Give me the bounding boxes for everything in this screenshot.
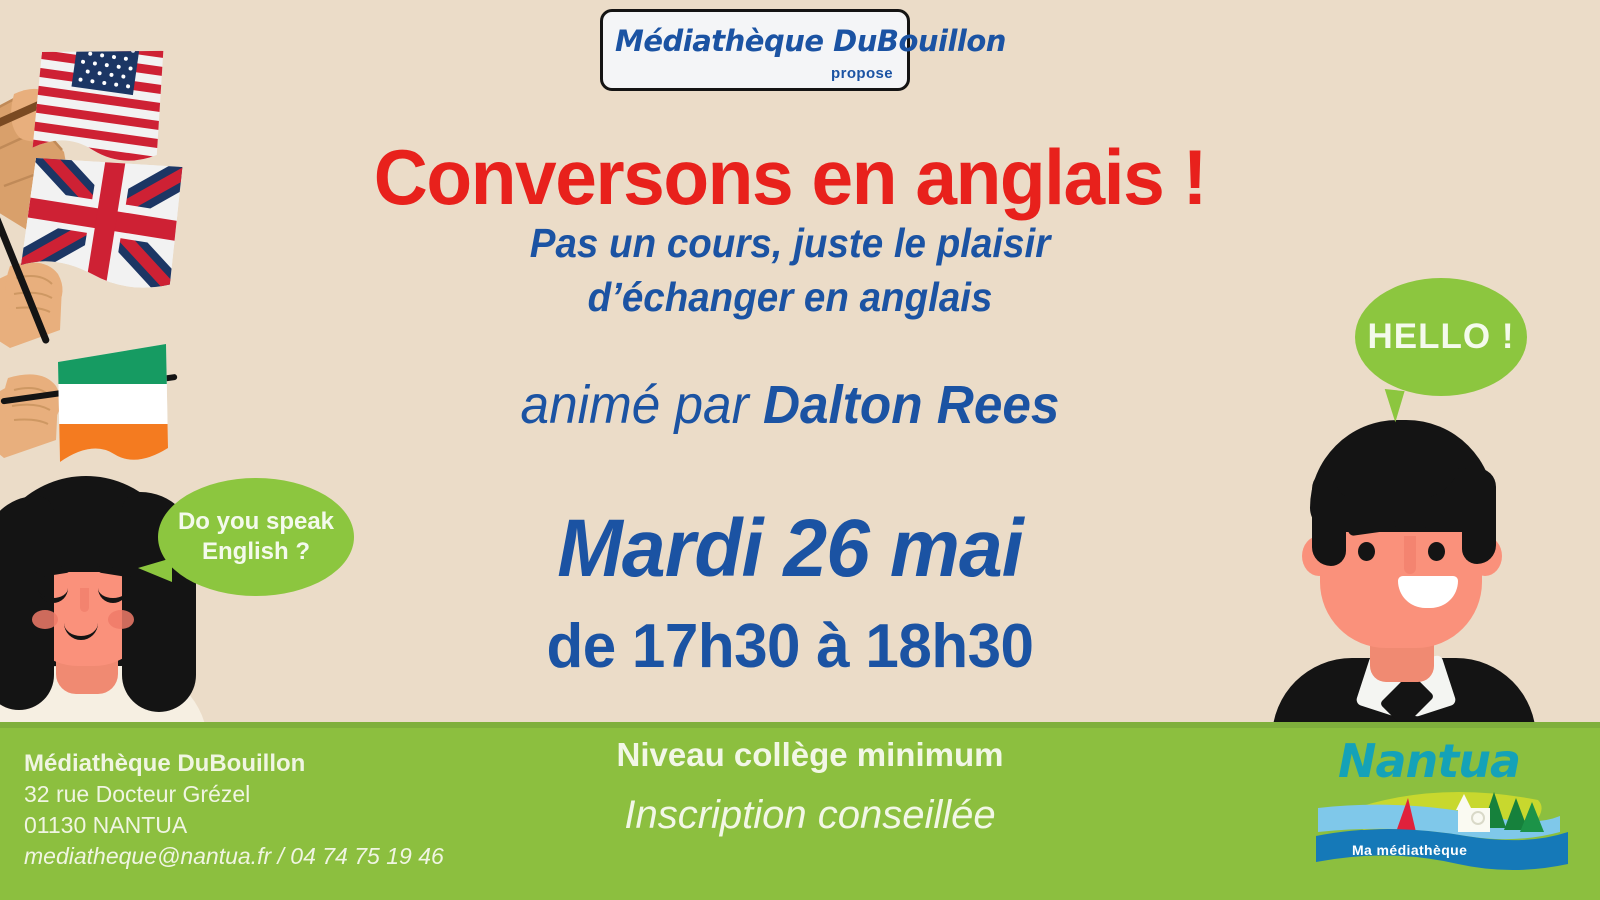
nantua-logo-wordmark: Nantua	[1338, 734, 1520, 788]
man-eye-left	[1358, 542, 1375, 561]
speech-bubble-speak: Do you speak English ?	[158, 478, 354, 596]
speech-bubble-speak-text: Do you speak English ?	[178, 507, 334, 567]
woman-cheek-right	[108, 610, 134, 629]
event-date: Mardi 26 mai	[320, 502, 1261, 596]
nantua-logo-tagline: Ma médiathèque	[1352, 842, 1467, 858]
woman-hair-left	[0, 496, 54, 710]
contact-email-phone: mediatheque@nantua.fr / 04 74 75 19 46	[24, 841, 444, 872]
speech-bubble-hello: HELLO !	[1355, 278, 1527, 396]
man-nose	[1404, 536, 1416, 574]
subtitle-line-1: Pas un cours, juste le plaisir	[329, 216, 1250, 270]
ireland-flag-group	[0, 334, 178, 480]
mediatheque-logo-name: Médiathèque DuBouillon	[615, 24, 901, 58]
subtitle-line-2: d’échanger en anglais	[329, 270, 1250, 324]
contact-street: 32 rue Docteur Grézel	[24, 779, 444, 810]
flags-illustration	[0, 0, 240, 500]
contact-city: 01130 NANTUA	[24, 810, 444, 841]
poster-canvas: Médiathèque DuBouillon propose Converson…	[0, 0, 1600, 900]
speech-bubble-hello-tail	[1381, 389, 1404, 423]
flags-svg	[0, 0, 240, 500]
event-time: de 17h30 à 18h30	[315, 610, 1266, 684]
mediatheque-logo-box: Médiathèque DuBouillon propose	[600, 9, 910, 91]
woman-nose	[80, 588, 89, 612]
speech-bubble-speak-line-2: English ?	[202, 538, 310, 565]
animator-name: Dalton Rees	[763, 375, 1059, 435]
man-eye-right	[1428, 542, 1445, 561]
mediatheque-logo-suffix: propose	[831, 65, 893, 82]
subtitle: Pas un cours, juste le plaisir d’échange…	[329, 216, 1250, 324]
contact-block: Médiathèque DuBouillon 32 rue Docteur Gr…	[24, 748, 444, 872]
nantua-logo: Nantua Ma médiathèque	[1316, 736, 1572, 876]
man-character	[1278, 410, 1528, 725]
speech-bubble-hello-text: HELLO !	[1368, 317, 1515, 357]
speech-bubble-speak-tail	[138, 558, 172, 582]
contact-venue: Médiathèque DuBouillon	[24, 748, 444, 779]
woman-cheek-left	[32, 610, 58, 629]
footer-registration-note: Inscription conseillée	[470, 787, 1150, 843]
animator-prefix: animé par	[521, 375, 763, 435]
speech-bubble-speak-line-1: Do you speak	[178, 508, 334, 535]
man-hair-right	[1462, 468, 1496, 564]
page-title: Conversons en anglais !	[300, 136, 1279, 218]
animator-line: animé par Dalton Rees	[325, 373, 1256, 437]
footer-notes: Niveau collège minimum Inscription conse…	[470, 732, 1150, 843]
footer-level-note: Niveau collège minimum	[470, 732, 1150, 778]
